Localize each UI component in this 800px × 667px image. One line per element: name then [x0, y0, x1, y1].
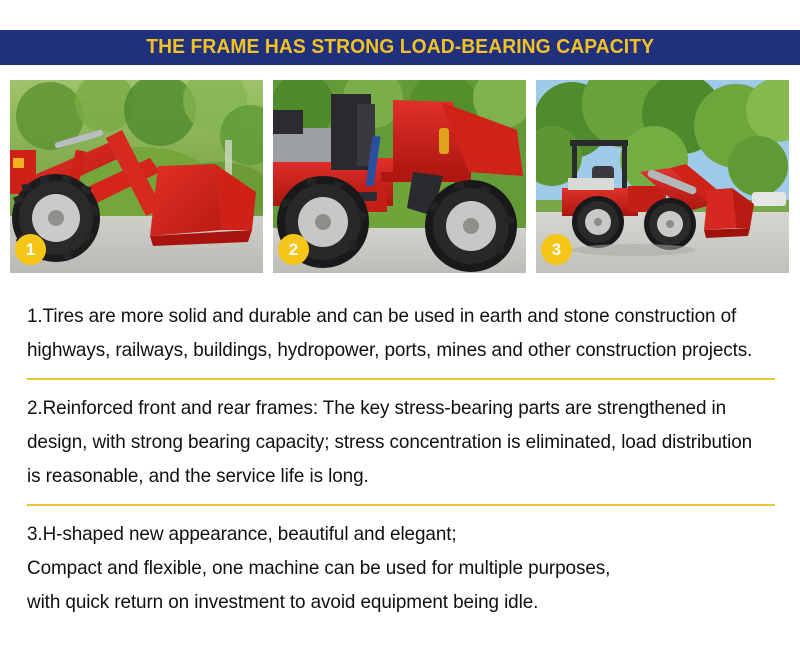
loader-side-frame-photo — [273, 80, 526, 273]
feature-text-frames: 2.Reinforced front and rear frames: The … — [27, 391, 753, 493]
photo-badge-1: 1 — [15, 234, 46, 265]
gallery-photo-1[interactable]: 1 — [10, 80, 263, 273]
feature-item-tires: 1.Tires are more solid and durable and c… — [0, 288, 800, 367]
photo-gallery: 1 — [10, 80, 790, 273]
photo-badge-2: 2 — [278, 234, 309, 265]
feature-text-appearance: 3.H-shaped new appearance, beautiful and… — [27, 517, 753, 619]
feature-text-appearance-line3: with quick return on investment to avoid… — [27, 585, 753, 619]
feature-text-tires: 1.Tires are more solid and durable and c… — [27, 299, 753, 367]
product-feature-page: THE FRAME HAS STRONG LOAD-BEARING CAPACI… — [0, 0, 800, 667]
feature-list: 1.Tires are more solid and durable and c… — [0, 288, 800, 619]
feature-item-frames: 2.Reinforced front and rear frames: The … — [0, 391, 800, 493]
header-banner: THE FRAME HAS STRONG LOAD-BEARING CAPACI… — [0, 30, 800, 65]
feature-divider-1 — [27, 378, 775, 380]
gallery-photo-3[interactable]: 3 — [536, 80, 789, 273]
feature-text-appearance-line1: 3.H-shaped new appearance, beautiful and… — [27, 517, 753, 551]
feature-text-appearance-line2: Compact and flexible, one machine can be… — [27, 551, 753, 585]
gallery-photo-2[interactable]: 2 — [273, 80, 526, 273]
page-title: THE FRAME HAS STRONG LOAD-BEARING CAPACI… — [146, 37, 654, 58]
feature-item-appearance: 3.H-shaped new appearance, beautiful and… — [0, 517, 800, 619]
loader-full-side-photo — [536, 80, 789, 273]
loader-front-arm-photo — [10, 80, 263, 273]
photo-badge-3: 3 — [541, 234, 572, 265]
feature-divider-2 — [27, 504, 775, 506]
